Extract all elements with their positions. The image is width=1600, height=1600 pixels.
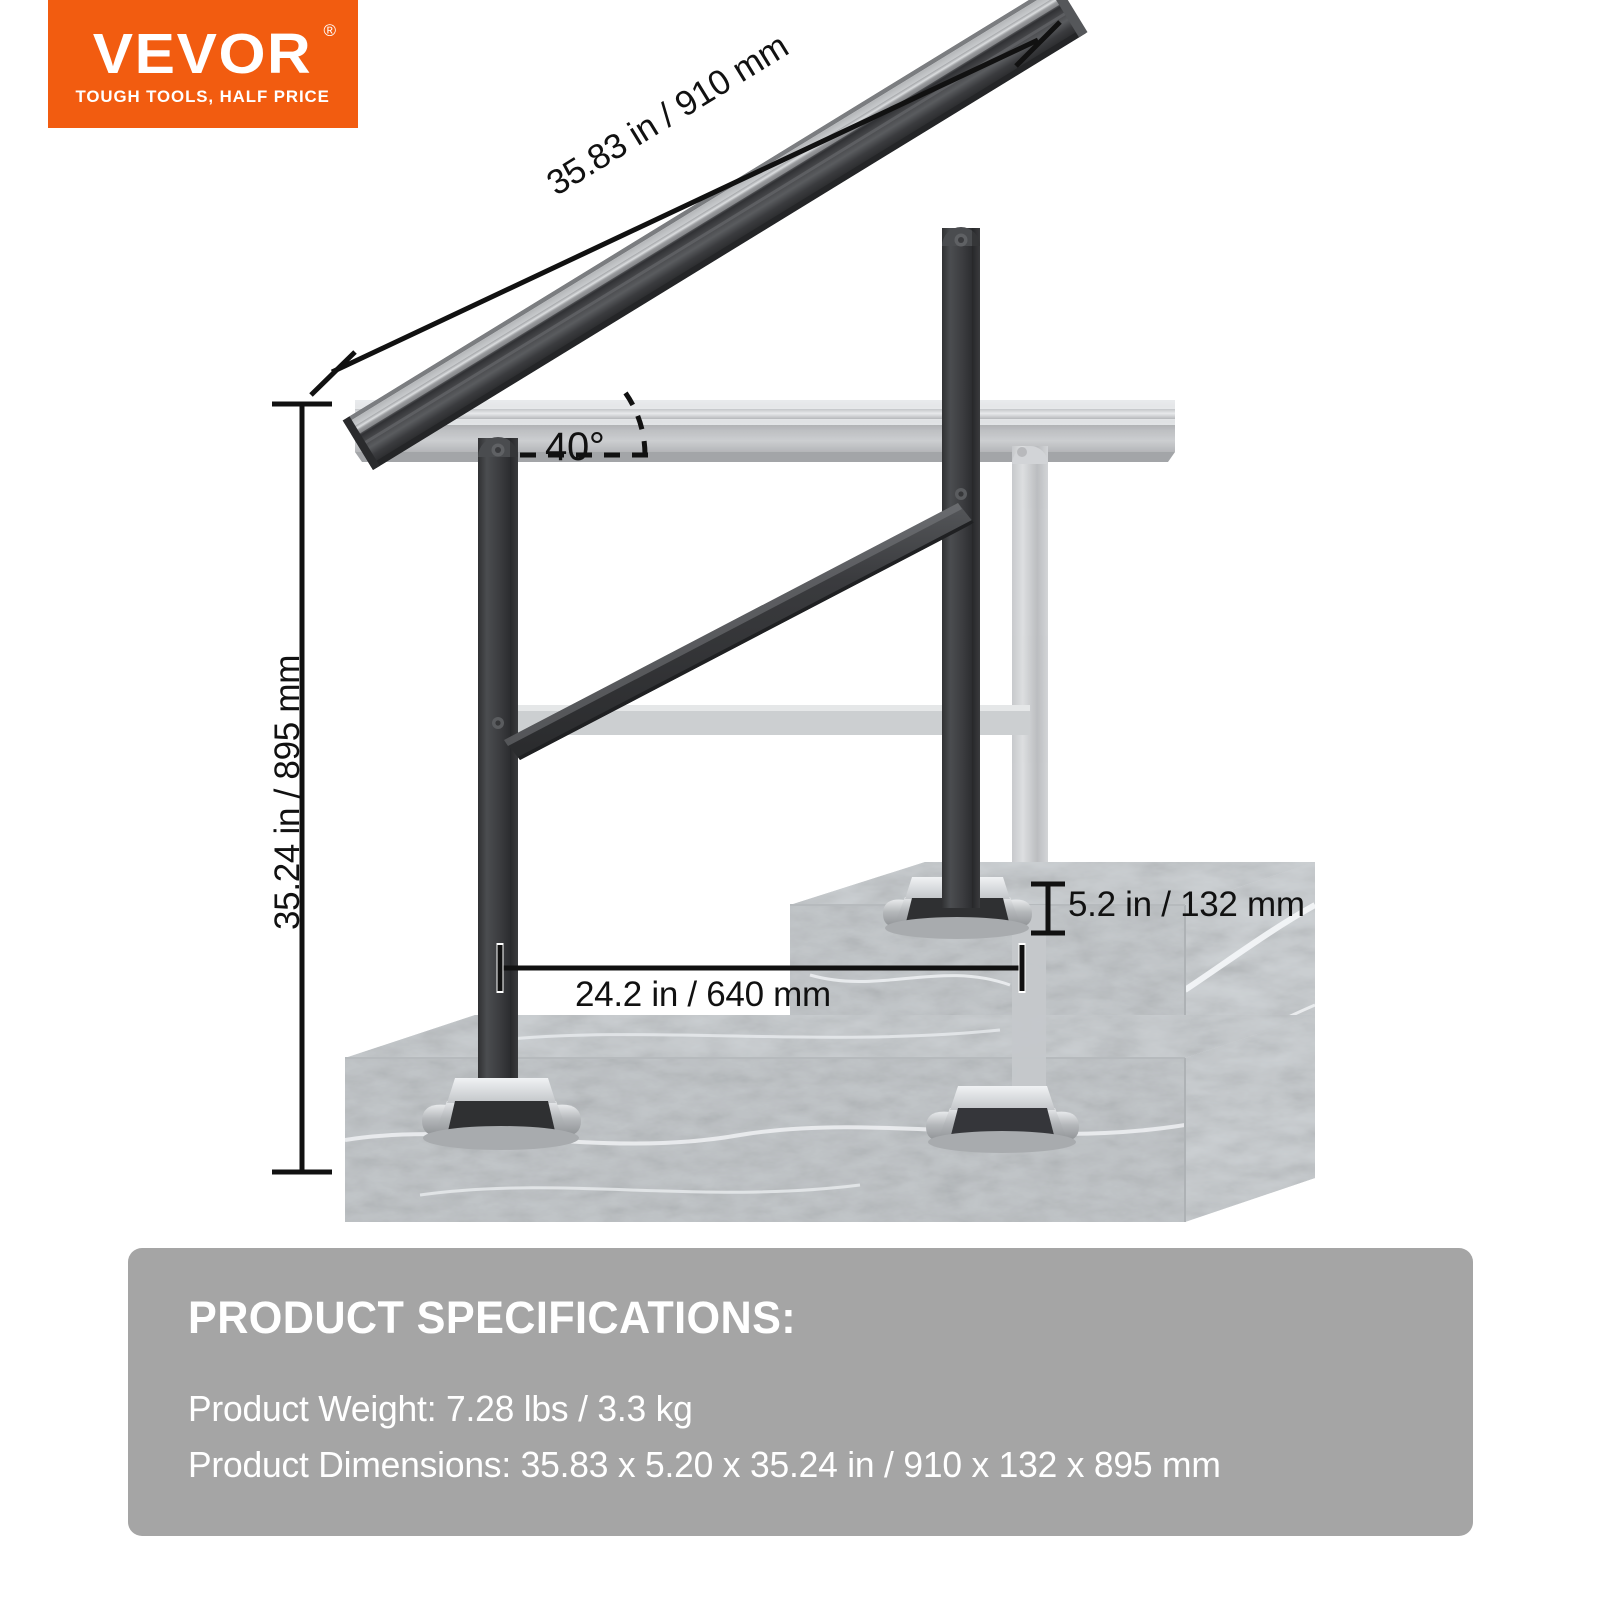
dimension-label-angle: 40° xyxy=(545,425,605,470)
spec-dimensions-line: Product Dimensions: 35.83 x 5.20 x 35.24… xyxy=(188,1444,1434,1486)
product-specifications-panel: PRODUCT SPECIFICATIONS: Product Weight: … xyxy=(128,1248,1473,1536)
product-spec-page: VEVOR ® TOUGH TOOLS, HALF PRICE xyxy=(0,0,1600,1600)
dimension-label-vertical: 35.24 in / 895 mm xyxy=(268,655,308,930)
dimension-label-post-spacing: 24.2 in / 640 mm xyxy=(575,975,831,1015)
spec-panel-title: PRODUCT SPECIFICATIONS: xyxy=(188,1292,1422,1344)
product-illustration xyxy=(0,0,1600,1240)
post-right-dark xyxy=(942,227,980,908)
post-left-dark xyxy=(478,437,518,1103)
dimension-label-base-depth: 5.2 in / 132 mm xyxy=(1068,885,1305,925)
spec-weight-line: Product Weight: 7.28 lbs / 3.3 kg xyxy=(188,1388,1434,1430)
